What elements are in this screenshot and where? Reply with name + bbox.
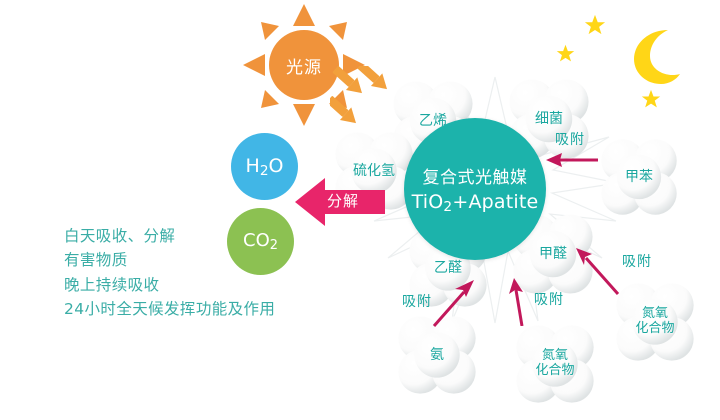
sun-disc: 光源 (269, 30, 339, 100)
h2o-circle: H2O (231, 133, 298, 200)
crescent-moon-icon (628, 28, 684, 86)
molecule-cluster-icon (613, 280, 697, 364)
core-formula: TiO2+Apatite (412, 191, 539, 215)
star-left-icon (556, 44, 575, 63)
h2o-label: H2O (246, 155, 284, 179)
decompose-label: 分解 (327, 190, 359, 211)
adsorb-label-nox-bottom: 吸附 (534, 289, 564, 309)
star-bottom-icon (641, 89, 661, 109)
adsorb-arrow-toluene-icon (546, 152, 598, 168)
core-title-cn: 复合式光触媒 (423, 163, 528, 188)
infographic-canvas: 光源 (0, 0, 720, 420)
blurb-line-1: 白天吸收、分解 (64, 226, 334, 246)
h2o-sub: 2 (260, 163, 269, 179)
sun-label: 光源 (286, 53, 322, 78)
adsorb-label-ammonia: 吸附 (402, 291, 432, 311)
adsorb-arrow-ammonia-icon (432, 280, 476, 328)
h2o-prefix: H (246, 155, 260, 177)
core-formula-sub: 2 (443, 199, 452, 215)
molecule-nitrogen-oxides-right: 氮氧 化合物 (613, 280, 697, 364)
molecule-toluene: 甲苯 (598, 136, 680, 218)
star-top-left-icon (584, 14, 606, 36)
h2o-suffix: O (269, 155, 284, 177)
molecule-cluster-icon (513, 322, 597, 406)
core-formula-prefix: TiO (412, 191, 444, 213)
blurb-line-4: 24小时全天候发挥功能及作用 (64, 299, 334, 319)
adsorb-label-nox-right: 吸附 (622, 251, 652, 271)
molecule-cluster-icon (598, 136, 680, 218)
description-text-block: 白天吸收、分解 有害物质 晚上持续吸收 24小时全天候发挥功能及作用 (64, 226, 334, 324)
adsorb-arrow-nox-bottom-icon (506, 278, 532, 326)
core-catalyst-circle: 复合式光触媒 TiO2+Apatite (404, 118, 546, 260)
decompose-arrow: 分解 (295, 176, 385, 228)
blurb-line-2: 有害物质 (64, 250, 334, 270)
adsorb-label-toluene: 吸附 (555, 129, 585, 149)
molecule-nitrogen-oxides-bottom: 氮氧 化合物 (513, 322, 597, 406)
blurb-line-3: 晚上持续吸收 (64, 275, 334, 295)
adsorb-arrow-nox-right-icon (574, 248, 620, 296)
core-formula-suffix: +Apatite (452, 191, 538, 213)
